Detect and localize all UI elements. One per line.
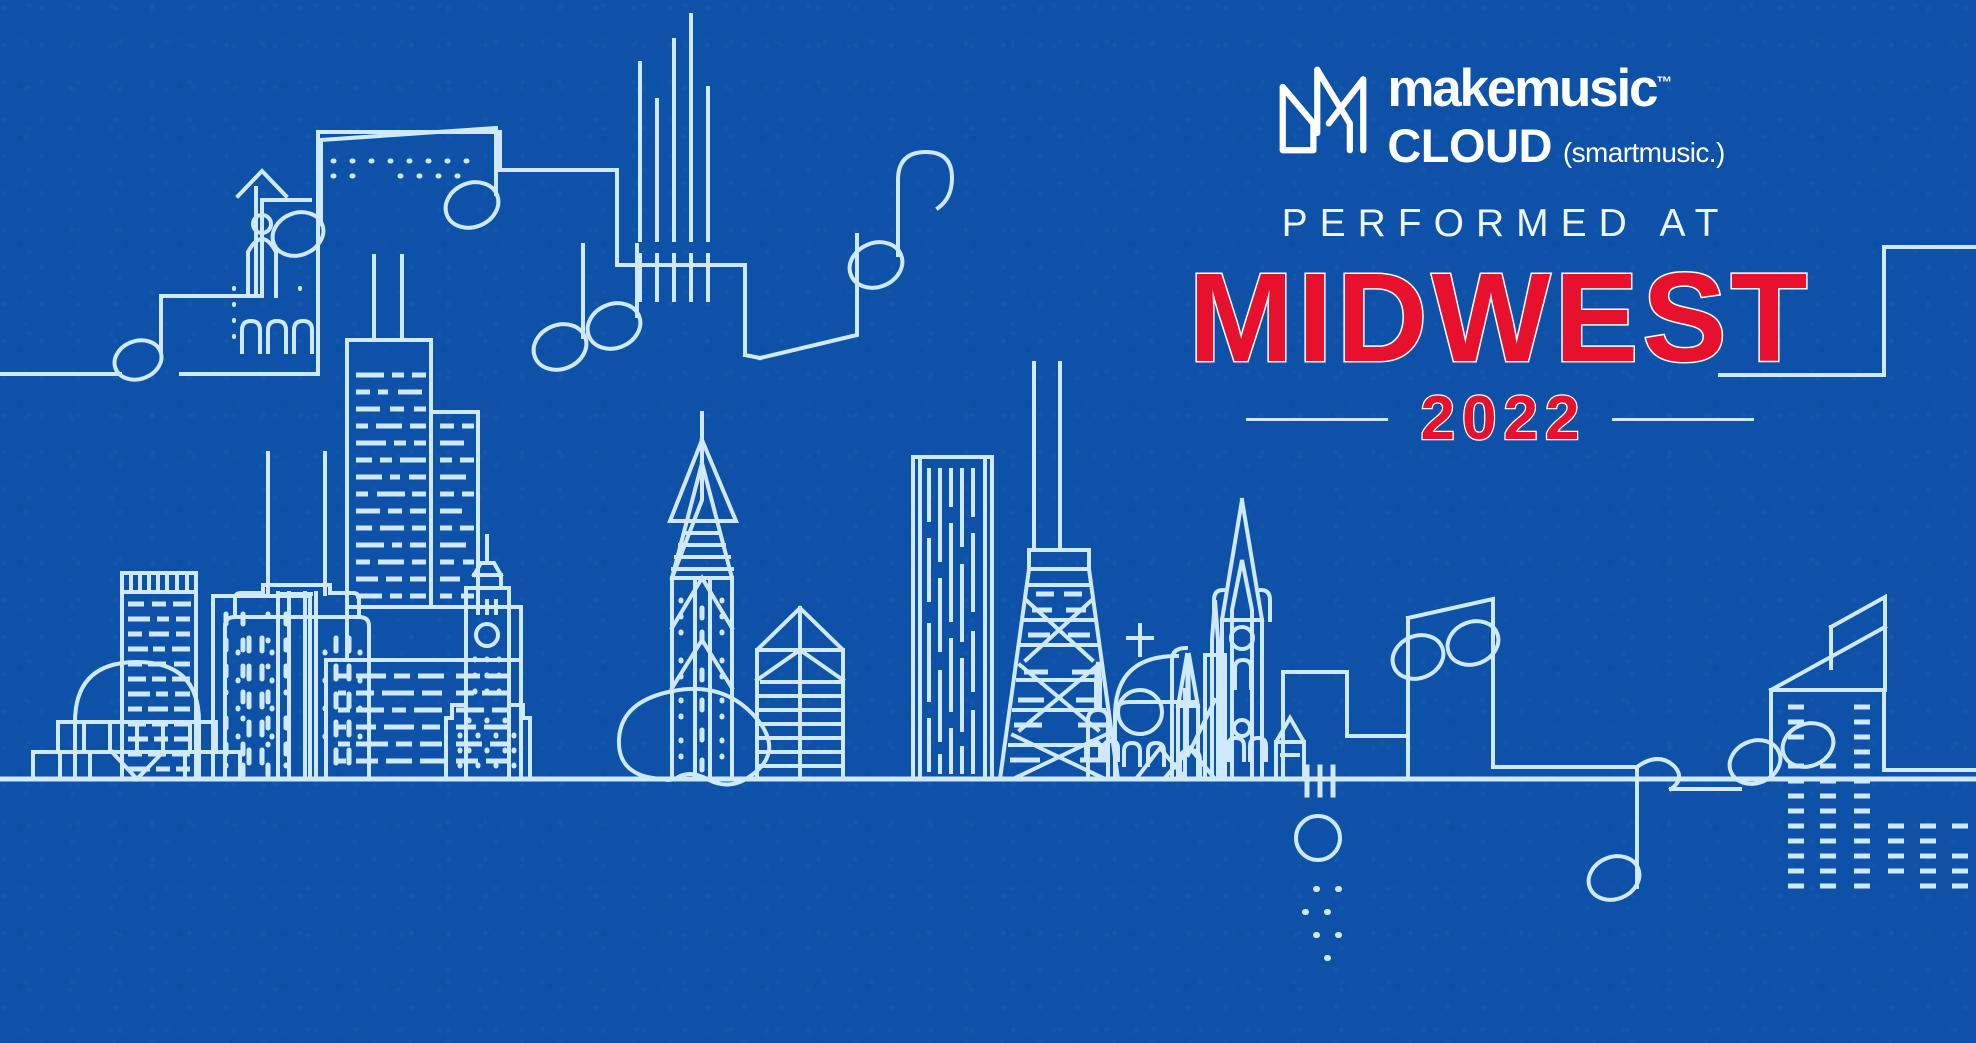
john-hancock-center	[1000, 363, 1118, 779]
staff-line-descending	[745, 235, 857, 358]
skyline-artwork	[0, 0, 1976, 1043]
roof-window-dots	[333, 161, 467, 176]
staff-line-top-left	[0, 200, 310, 386]
willis-tower	[326, 256, 521, 779]
baseline-dots	[1305, 889, 1339, 958]
poster-canvas: makemusic™ CLOUD (smartmusic.) PERFORMED…	[0, 0, 1976, 1043]
hancock-x-bracing	[1013, 600, 1105, 779]
hook-right	[1637, 759, 1740, 789]
eighth-note-right-upper	[843, 152, 952, 296]
roof-line-left	[318, 132, 500, 296]
note-heads-bottom-right	[1386, 614, 1646, 907]
eighth-note-pair-top-left	[266, 128, 505, 263]
willis-windows	[338, 375, 510, 761]
aqua-ribbons	[929, 470, 973, 772]
crain-communications-building	[757, 608, 843, 779]
frame-line-top-right	[1720, 247, 1976, 375]
prudential-hatch	[673, 521, 732, 569]
aqua-tower	[913, 457, 992, 779]
antenna-bars	[640, 15, 708, 300]
cathedral	[1086, 500, 1304, 779]
two-prudential-plaza	[670, 413, 736, 779]
right-tower	[1723, 597, 1976, 886]
right-tower-windows	[1788, 707, 1968, 886]
staff-line-bottom-right	[1408, 599, 1637, 887]
riverside-block	[1283, 672, 1408, 958]
